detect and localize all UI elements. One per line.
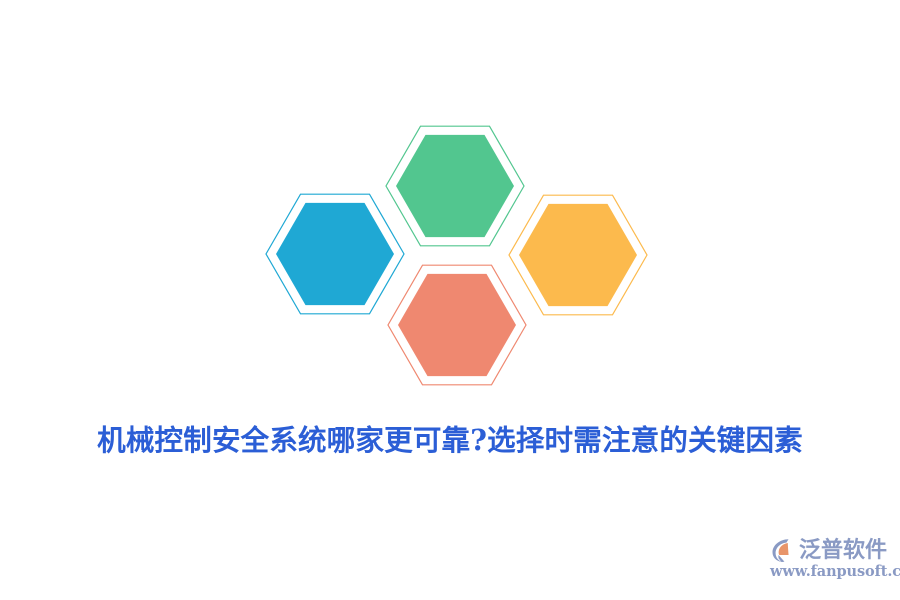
hex-salmon-group	[388, 265, 526, 385]
page-canvas: 机械控制安全系统哪家更可靠?选择时需注意的关键因素 泛普软件 www.fanpu…	[0, 0, 900, 600]
hex-green-fill	[396, 135, 514, 237]
brand-name: 泛普软件	[799, 535, 887, 565]
fanpu-logo-icon	[768, 535, 798, 565]
hex-orange-group	[509, 195, 647, 315]
page-title: 机械控制安全系统哪家更可靠?选择时需注意的关键因素	[0, 418, 900, 462]
logo-row: 泛普软件	[768, 534, 887, 566]
hex-orange-fill	[519, 204, 637, 306]
brand-url: www.fanpusoft.com	[770, 563, 900, 580]
hex-blue-fill	[276, 203, 394, 305]
hexagon-cluster-svg	[0, 0, 900, 420]
hex-green-group	[386, 126, 524, 246]
hex-salmon-fill	[398, 274, 516, 376]
brand-watermark: 泛普软件 www.fanpusoft.com	[768, 534, 890, 582]
hex-blue-group	[266, 194, 404, 314]
hexagon-cluster-graphic	[0, 0, 900, 420]
